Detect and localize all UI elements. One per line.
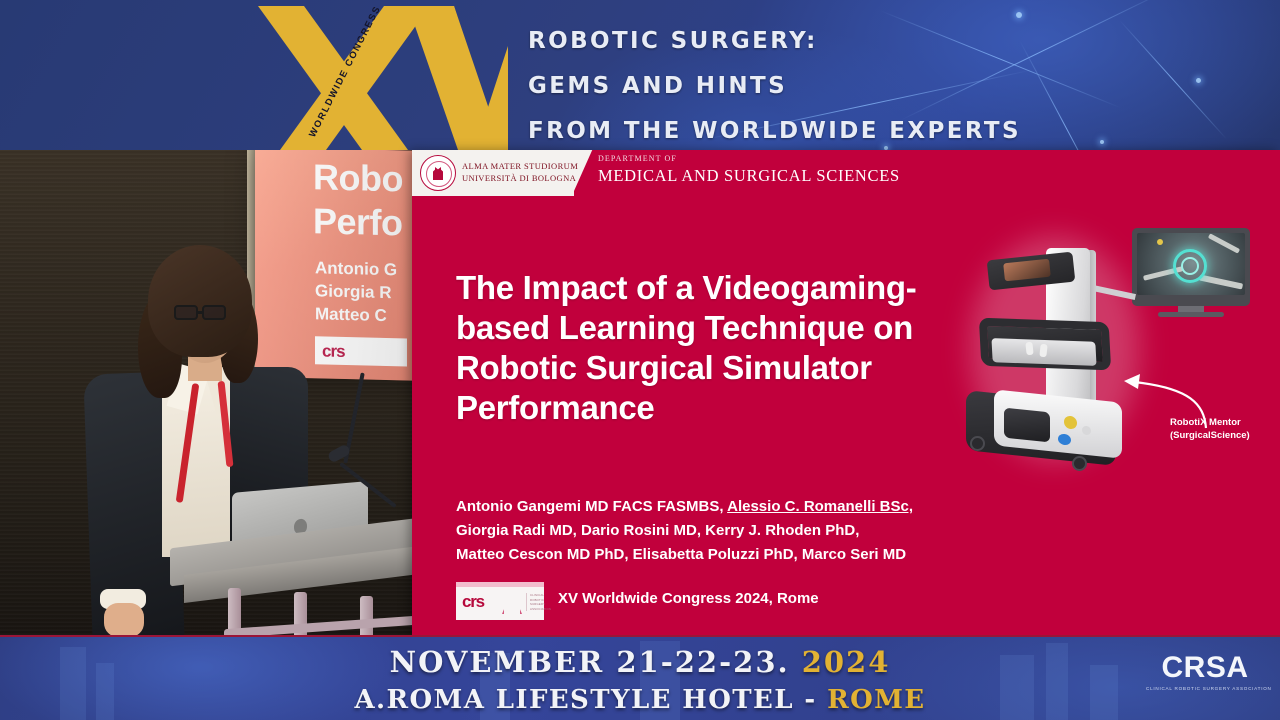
video-frame: WORLDWIDE CONGRESS ROBOTIC SURGERY: GEMS… — [0, 0, 1280, 720]
event-date-line: NOVEMBER 21-22-23. 2024 — [0, 637, 1280, 683]
event-venue-line: A.ROMA LIFESTYLE HOTEL - ROME — [0, 683, 1280, 717]
figure-caption-line-1: RobotiX Mentor — [1170, 416, 1250, 429]
event-venue-text: A.ROMA LIFESTYLE HOTEL - — [354, 685, 816, 715]
author-line-2: Giorgia Radi MD, Dario Rosini MD, Kerry … — [456, 519, 1056, 543]
crsa-logo-bottom: CRSA CLINICAL ROBOTIC SURGERY ASSOCIATIO… — [1146, 651, 1264, 693]
figure-caption-line-2: (SurgicalScience) — [1170, 429, 1250, 442]
figure-caption: RobotiX Mentor (SurgicalScience) — [1170, 416, 1250, 442]
author-line-1-underlined: Alessio C. Romanelli BSc, — [727, 498, 913, 515]
bottom-banner: NOVEMBER 21-22-23. 2024 A.ROMA LIFESTYLE… — [0, 635, 1280, 720]
simulator-target-ring-inner — [1181, 257, 1199, 275]
congress-caption: XV Worldwide Congress 2024, Rome — [558, 590, 819, 607]
event-date-text: NOVEMBER 21-22-23. — [390, 645, 790, 679]
department-name: MEDICAL AND SURGICAL SCIENCES — [598, 165, 900, 186]
crsa-logo-bottom-subtitle: CLINICAL ROBOTIC SURGERY ASSOCIATION — [1146, 685, 1264, 693]
congress-logo-xv: WORLDWIDE CONGRESS — [258, 0, 508, 150]
university-line-2: UNIVERSITÀ DI BOLOGNA — [462, 172, 568, 184]
crsa-sub-1: CLINICAL — [530, 593, 544, 598]
crsa-logo-a-icon — [502, 590, 522, 614]
hair-top — [148, 245, 252, 357]
simulator-console-box — [1004, 408, 1050, 443]
event-details: NOVEMBER 21-22-23. 2024 A.ROMA LIFESTYLE… — [0, 637, 1280, 717]
university-branding-strip: ALMA MATER STUDIORUM UNIVERSITÀ DI BOLOG… — [412, 150, 574, 196]
crsa-sub-4: ASSOCIATION — [530, 607, 544, 612]
monitor-foot — [1158, 312, 1224, 317]
top-banner: WORLDWIDE CONGRESS ROBOTIC SURGERY: GEMS… — [0, 0, 1280, 150]
author-line-1-plain: Antonio Gangemi MD FACS FASMBS, — [456, 498, 727, 515]
simulator-monitor — [1132, 228, 1250, 306]
hand — [104, 603, 144, 635]
author-line-3: Matteo Cescon MD PhD, Elisabetta Poluzzi… — [456, 543, 1056, 567]
crsa-logo-bottom-text: CRSA — [1161, 651, 1248, 685]
university-line-1: ALMA MATER STUDIORUM — [462, 160, 568, 172]
headline-line-2: GEMS AND HINTS — [528, 64, 1168, 109]
department-prefix: DEPARTMENT OF — [598, 153, 900, 165]
glasses-left-lens — [174, 305, 198, 320]
headline-line-3: FROM THE WORLDWIDE EXPERTS — [528, 109, 1168, 150]
slide-title: The Impact of a Videogaming-based Learni… — [456, 268, 976, 428]
event-city-text: ROME — [827, 685, 925, 715]
headline-line-1: ROBOTIC SURGERY: — [528, 19, 1168, 64]
presentation-slide-overlay: ALMA MATER STUDIORUM UNIVERSITÀ DI BOLOG… — [412, 150, 1280, 635]
banner-headline: ROBOTIC SURGERY: GEMS AND HINTS FROM THE… — [528, 19, 1168, 150]
crsa-logo-text: crs — [462, 592, 484, 612]
slide-header: ALMA MATER STUDIORUM UNIVERSITÀ DI BOLOG… — [412, 150, 1280, 196]
crsa-logo-subtitle: CLINICAL ROBOTIC SURGERY ASSOCIATION — [526, 593, 544, 611]
crsa-logo-slide: crs CLINICAL ROBOTIC SURGERY ASSOCIATION — [456, 582, 544, 620]
event-year-text: 2024 — [802, 645, 891, 679]
glasses-bridge — [198, 311, 204, 314]
slide-author-list: Antonio Gangemi MD FACS FASMBS, Alessio … — [456, 495, 1056, 567]
department-block: DEPARTMENT OF MEDICAL AND SURGICAL SCIEN… — [598, 153, 900, 186]
university-name: ALMA MATER STUDIORUM UNIVERSITÀ DI BOLOG… — [462, 160, 568, 184]
simulator-screen — [1137, 233, 1245, 295]
glasses-right-lens — [202, 305, 226, 320]
simulator-illustration: RobotiX Mentor (SurgicalScience) — [960, 220, 1250, 480]
university-seal-icon — [420, 155, 456, 191]
author-line-1: Antonio Gangemi MD FACS FASMBS, Alessio … — [456, 495, 1056, 519]
